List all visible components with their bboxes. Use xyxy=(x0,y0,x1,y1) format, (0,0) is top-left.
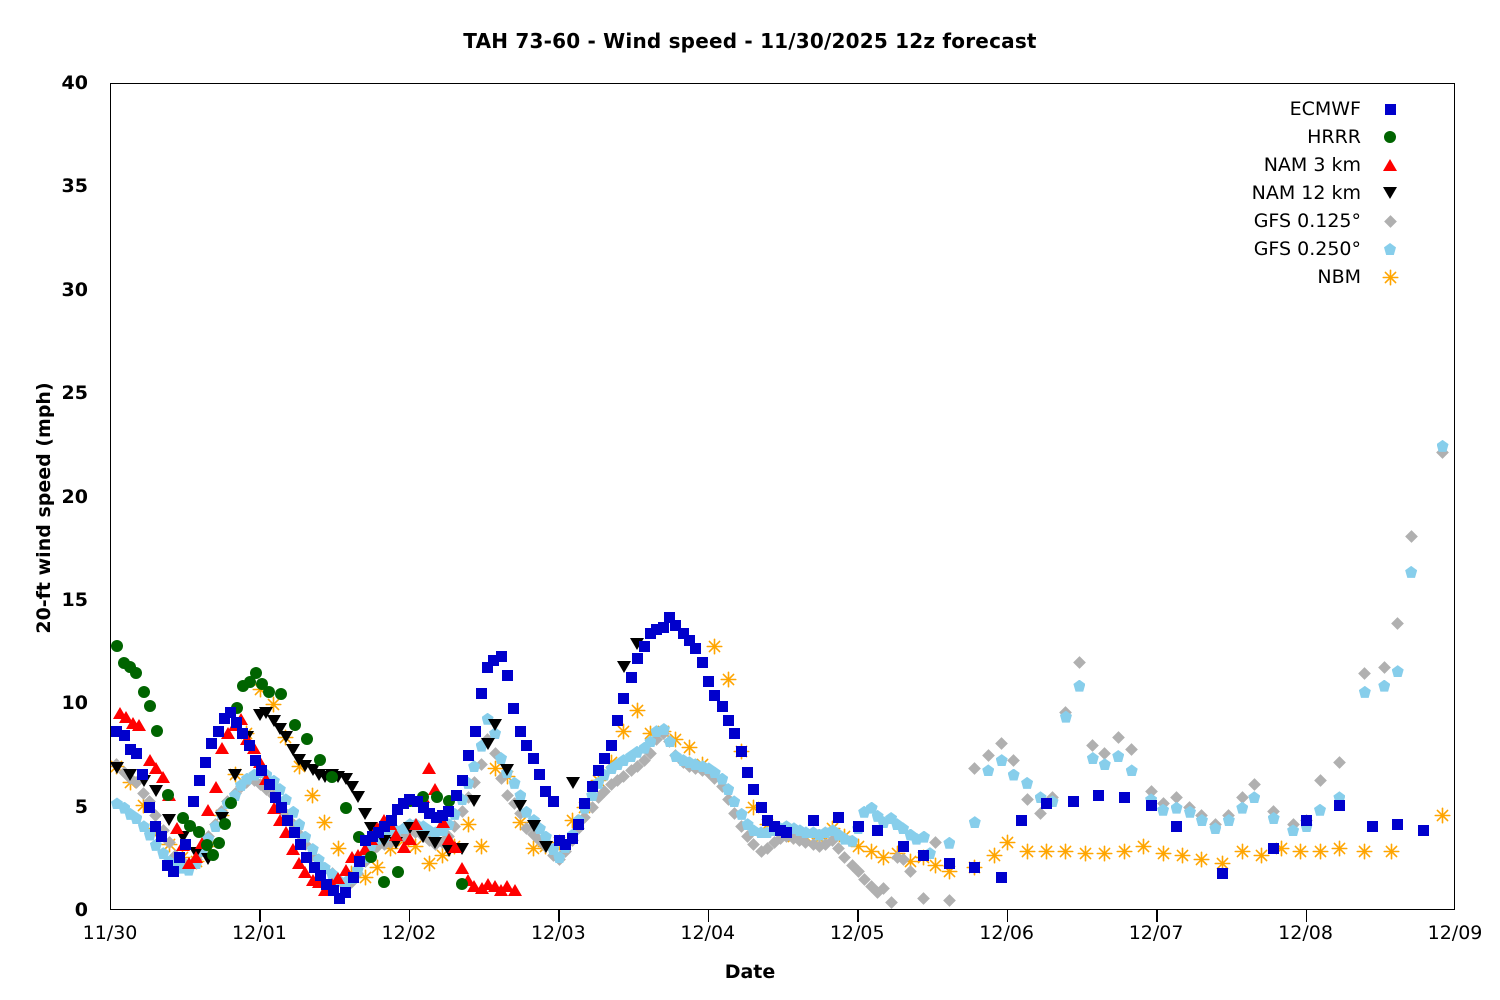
data-point xyxy=(781,827,792,838)
data-point xyxy=(639,641,650,652)
data-point xyxy=(684,635,695,646)
data-point xyxy=(670,620,681,631)
data-point xyxy=(1392,819,1403,830)
x-tick-label: 12/02 xyxy=(339,922,479,944)
lightblue-pentagon-icon xyxy=(1384,243,1396,255)
data-point xyxy=(678,628,689,639)
data-point xyxy=(528,753,539,764)
data-point xyxy=(256,765,267,776)
data-point xyxy=(482,662,493,673)
data-point xyxy=(244,740,255,751)
data-point xyxy=(457,775,468,786)
x-tick-label: 12/06 xyxy=(937,922,1077,944)
data-point xyxy=(289,827,300,838)
data-point xyxy=(340,887,351,898)
data-point xyxy=(392,804,403,815)
green-circle-icon xyxy=(1375,123,1405,151)
x-tick-label: 12/08 xyxy=(1236,922,1376,944)
data-point xyxy=(567,833,578,844)
data-point xyxy=(225,707,236,718)
data-point xyxy=(729,728,740,739)
data-point xyxy=(282,815,293,826)
data-point xyxy=(443,806,454,817)
data-point xyxy=(379,821,390,832)
data-point xyxy=(373,827,384,838)
orange-asterisk-icon xyxy=(1382,269,1399,286)
x-tick-mark xyxy=(1156,910,1158,922)
data-point xyxy=(723,715,734,726)
orange-asterisk-icon xyxy=(1375,263,1405,291)
data-point xyxy=(969,862,980,873)
data-point xyxy=(321,879,332,890)
data-point xyxy=(1041,798,1052,809)
data-point xyxy=(593,765,604,776)
data-point xyxy=(206,738,217,749)
data-point xyxy=(632,653,643,664)
data-point xyxy=(354,856,365,867)
x-tick-label: 12/04 xyxy=(638,922,778,944)
legend-item-gfs-0-125[interactable]: GFS 0.125° xyxy=(1180,207,1405,235)
data-point xyxy=(697,657,708,668)
data-point xyxy=(1334,800,1345,811)
data-point xyxy=(168,866,179,877)
data-point xyxy=(424,808,435,819)
legend-item-nam-3-km[interactable]: NAM 3 km xyxy=(1180,151,1405,179)
legend-item-ecmwf[interactable]: ECMWF xyxy=(1180,95,1405,123)
data-point xyxy=(612,715,623,726)
gray-diamond-icon xyxy=(1375,207,1405,235)
data-point xyxy=(599,753,610,764)
data-point xyxy=(250,755,261,766)
data-point xyxy=(470,726,481,737)
data-point xyxy=(606,740,617,751)
x-tick-label: 12/07 xyxy=(1086,922,1226,944)
data-point xyxy=(1146,800,1157,811)
data-point xyxy=(174,852,185,863)
data-point xyxy=(295,839,306,850)
x-tick-mark xyxy=(1007,910,1009,922)
data-point xyxy=(587,781,598,792)
data-point xyxy=(709,690,720,701)
y-tick-label: 10 xyxy=(28,692,88,714)
data-point xyxy=(1367,821,1378,832)
y-tick-label: 15 xyxy=(28,589,88,611)
data-point xyxy=(579,798,590,809)
data-point xyxy=(315,870,326,881)
red-triangle-up-icon xyxy=(1375,151,1405,179)
data-point xyxy=(502,670,513,681)
data-point xyxy=(996,872,1007,883)
data-point xyxy=(808,815,819,826)
x-tick-mark xyxy=(708,910,710,922)
legend-label: NAM 3 km xyxy=(1264,151,1361,179)
data-point xyxy=(1217,868,1228,879)
data-point xyxy=(111,726,122,737)
x-axis-title: Date xyxy=(0,961,1500,983)
data-point xyxy=(898,841,909,852)
x-tick-mark xyxy=(259,910,261,922)
data-point xyxy=(180,839,191,850)
data-point xyxy=(431,812,442,823)
x-tick-mark xyxy=(558,910,560,922)
legend-label: GFS 0.250° xyxy=(1254,235,1361,263)
data-point xyxy=(188,796,199,807)
x-tick-mark xyxy=(857,910,859,922)
legend-item-nbm[interactable]: NBM xyxy=(1180,263,1405,291)
data-point xyxy=(736,746,747,757)
data-point xyxy=(412,796,423,807)
data-point xyxy=(150,821,161,832)
data-point xyxy=(131,748,142,759)
data-point xyxy=(194,775,205,786)
legend-item-gfs-0-250[interactable]: GFS 0.250° xyxy=(1180,235,1405,263)
data-point xyxy=(521,740,532,751)
black-triangle-down-icon xyxy=(1375,179,1405,207)
data-point xyxy=(348,872,359,883)
data-point xyxy=(496,651,507,662)
data-point xyxy=(833,812,844,823)
data-point xyxy=(717,701,728,712)
data-point xyxy=(560,839,571,850)
x-tick-label: 12/09 xyxy=(1385,922,1500,944)
lightblue-pentagon-icon xyxy=(1375,235,1405,263)
data-point xyxy=(334,893,345,904)
data-point xyxy=(398,798,409,809)
data-point xyxy=(651,624,662,635)
data-point xyxy=(554,835,565,846)
data-point xyxy=(775,825,786,836)
data-point xyxy=(1418,825,1429,836)
data-point xyxy=(386,815,397,826)
data-point xyxy=(200,757,211,768)
data-point xyxy=(742,767,753,778)
data-point xyxy=(476,688,487,699)
data-point xyxy=(645,628,656,639)
legend-label: GFS 0.125° xyxy=(1254,207,1361,235)
data-point xyxy=(1119,792,1130,803)
data-point xyxy=(548,796,559,807)
x-tick-label: 12/05 xyxy=(787,922,927,944)
data-point xyxy=(125,744,136,755)
data-point xyxy=(756,802,767,813)
data-point xyxy=(488,655,499,666)
data-point xyxy=(618,693,629,704)
data-point xyxy=(328,885,339,896)
green-circle-icon xyxy=(1384,131,1396,143)
blue-square-icon xyxy=(1385,104,1396,115)
data-point xyxy=(748,784,759,795)
data-point xyxy=(573,819,584,830)
legend-label: HRRR xyxy=(1307,123,1361,151)
legend-label: ECMWF xyxy=(1290,95,1361,123)
data-point xyxy=(1171,821,1182,832)
data-point xyxy=(231,717,242,728)
data-point xyxy=(219,713,230,724)
data-point xyxy=(944,858,955,869)
data-point xyxy=(119,730,130,741)
x-tick-mark xyxy=(1306,910,1308,922)
data-point xyxy=(664,612,675,623)
x-tick-mark xyxy=(409,910,411,922)
data-point xyxy=(658,622,669,633)
data-point xyxy=(769,821,780,832)
y-tick-label: 35 xyxy=(28,175,88,197)
legend-item-hrrr[interactable]: HRRR xyxy=(1180,123,1405,151)
data-point xyxy=(276,802,287,813)
data-point xyxy=(690,643,701,654)
x-tick-label: 11/30 xyxy=(40,922,180,944)
legend-item-nam-12-km[interactable]: NAM 12 km xyxy=(1180,179,1405,207)
data-point xyxy=(1068,796,1079,807)
legend-label: NAM 12 km xyxy=(1252,179,1361,207)
data-point xyxy=(270,792,281,803)
y-tick-label: 30 xyxy=(28,279,88,301)
gray-diamond-icon xyxy=(1384,215,1397,228)
data-point xyxy=(872,825,883,836)
y-tick-label: 5 xyxy=(28,796,88,818)
blue-square-icon xyxy=(1375,95,1405,123)
data-point xyxy=(144,802,155,813)
y-tick-label: 0 xyxy=(28,899,88,921)
data-point xyxy=(367,831,378,842)
data-point xyxy=(1268,843,1279,854)
data-point xyxy=(1301,815,1312,826)
chart-page: TAH 73-60 - Wind speed - 11/30/2025 12z … xyxy=(0,0,1500,1000)
data-point xyxy=(463,750,474,761)
data-point xyxy=(540,786,551,797)
black-triangle-down-icon xyxy=(1383,187,1397,199)
data-point xyxy=(404,794,415,805)
data-point xyxy=(626,672,637,683)
data-point xyxy=(1016,815,1027,826)
data-point xyxy=(137,769,148,780)
y-tick-label: 40 xyxy=(28,72,88,94)
data-point xyxy=(853,821,864,832)
y-tick-label: 25 xyxy=(28,382,88,404)
data-point xyxy=(437,810,448,821)
y-axis-title: 20-ft wind speed (mph) xyxy=(33,298,55,718)
data-point xyxy=(418,802,429,813)
data-point xyxy=(264,779,275,790)
data-point xyxy=(156,831,167,842)
data-point xyxy=(451,790,462,801)
legend: ECMWFHRRRNAM 3 kmNAM 12 kmGFS 0.125°GFS … xyxy=(1180,95,1405,291)
data-point xyxy=(918,850,929,861)
data-point xyxy=(162,860,173,871)
data-point xyxy=(213,726,224,737)
data-point xyxy=(534,769,545,780)
data-point xyxy=(309,862,320,873)
y-tick-label: 20 xyxy=(28,486,88,508)
x-tick-label: 12/03 xyxy=(488,922,628,944)
data-point xyxy=(237,728,248,739)
data-point xyxy=(1093,790,1104,801)
legend-label: NBM xyxy=(1317,263,1361,291)
x-tick-label: 12/01 xyxy=(189,922,329,944)
page-title: TAH 73-60 - Wind speed - 11/30/2025 12z … xyxy=(0,29,1500,53)
data-point xyxy=(360,835,371,846)
data-point xyxy=(515,726,526,737)
data-point xyxy=(703,676,714,687)
data-point xyxy=(762,815,773,826)
red-triangle-up-icon xyxy=(1383,159,1397,171)
data-point xyxy=(508,703,519,714)
data-point xyxy=(301,852,312,863)
